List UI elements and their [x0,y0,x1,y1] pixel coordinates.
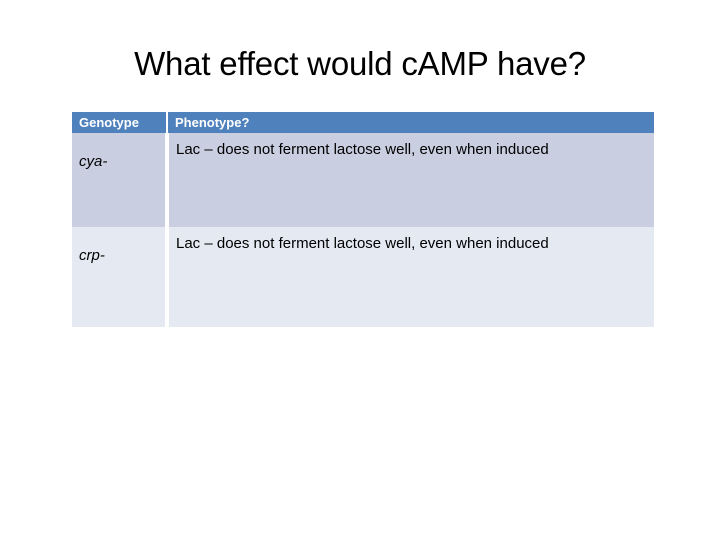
slide-canvas: What effect would cAMP have? Genotype Ph… [0,0,720,540]
cell-phenotype: Lac – does not ferment lactose well, eve… [167,227,654,327]
genotype-phenotype-table: Genotype Phenotype? cya- Lac – does not … [72,112,654,327]
cell-genotype: crp- [72,227,167,327]
cell-phenotype: Lac – does not ferment lactose well, eve… [167,133,654,227]
table-header: Genotype Phenotype? [72,112,654,133]
table-body: cya- Lac – does not ferment lactose well… [72,133,654,327]
column-header-phenotype: Phenotype? [167,112,654,133]
table-row: cya- Lac – does not ferment lactose well… [72,133,654,227]
column-header-genotype: Genotype [72,112,167,133]
table-row: crp- Lac – does not ferment lactose well… [72,227,654,327]
table-header-row: Genotype Phenotype? [72,112,654,133]
page-title: What effect would cAMP have? [36,44,684,84]
cell-genotype: cya- [72,133,167,227]
